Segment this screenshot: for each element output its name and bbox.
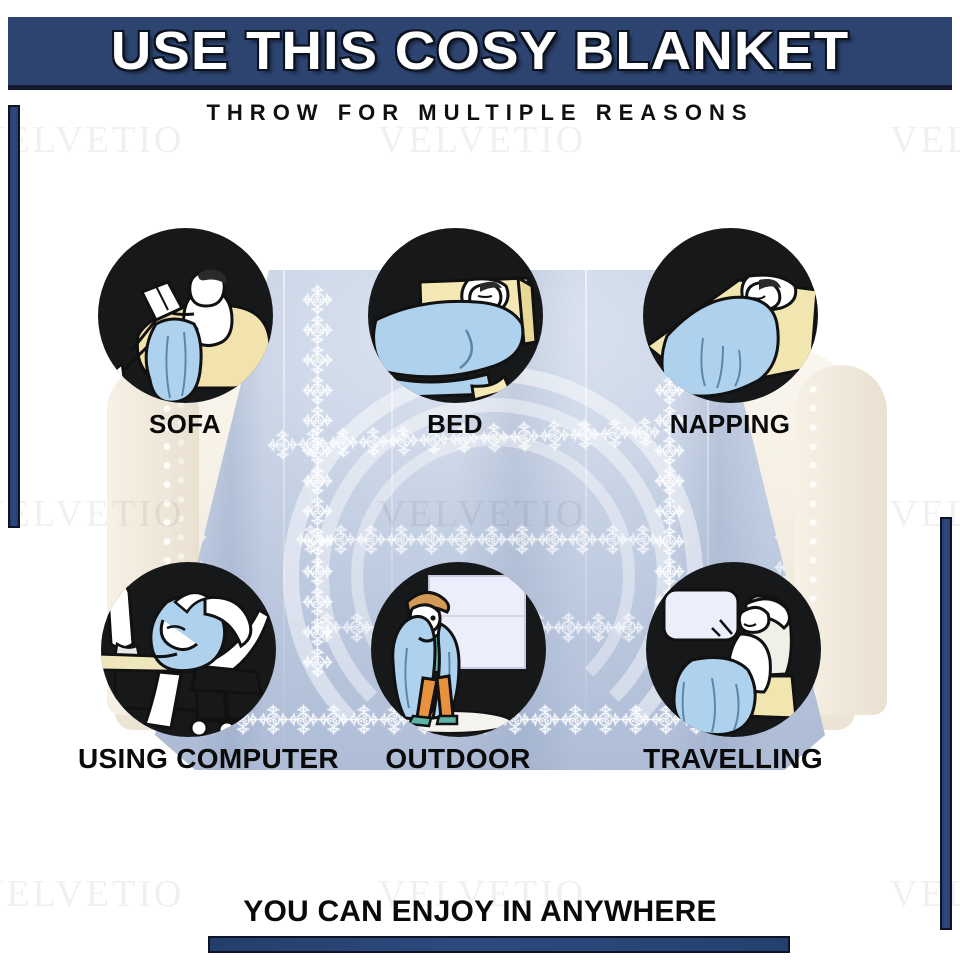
use-case-label: TRAVELLING bbox=[623, 743, 843, 775]
person-standing-outdoor-icon bbox=[371, 562, 546, 737]
use-case-napping[interactable]: NAPPING bbox=[620, 228, 840, 440]
use-case-label: SOFA bbox=[75, 409, 295, 440]
right-accent-rule bbox=[940, 517, 952, 930]
person-in-travel-seat-icon bbox=[646, 562, 821, 737]
use-case-label: USING COMPUTER bbox=[78, 743, 298, 775]
left-accent-rule bbox=[8, 105, 20, 528]
infographic-page: ࿇࿇࿇࿇࿇࿇࿇࿇࿇࿇࿇࿇࿇ ࿇࿇࿇࿇࿇࿇࿇࿇࿇࿇࿇࿇࿇ ࿇࿇࿇࿇࿇࿇࿇࿇࿇࿇࿇࿇… bbox=[0, 0, 960, 960]
use-case-using-computer[interactable]: USING COMPUTER bbox=[78, 562, 298, 775]
use-case-label: NAPPING bbox=[620, 409, 840, 440]
page-subtitle: THROW FOR MULTIPLE REASONS bbox=[0, 100, 960, 126]
use-case-travelling[interactable]: TRAVELLING bbox=[623, 562, 843, 775]
use-case-bed[interactable]: BED bbox=[345, 228, 565, 440]
person-napping-icon bbox=[643, 228, 818, 403]
person-sleeping-in-bed-icon bbox=[368, 228, 543, 403]
use-case-label: BED bbox=[345, 409, 565, 440]
medallion-key-arc-2: ࿇࿇࿇࿇࿇࿇࿇࿇࿇࿇࿇࿇ bbox=[295, 522, 695, 556]
person-at-computer-desk-icon bbox=[101, 562, 276, 737]
use-case-label: OUTDOOR bbox=[348, 743, 568, 775]
page-title: USE THIS COSY BLANKET bbox=[111, 20, 849, 82]
footer-caption: YOU CAN ENJOY IN ANYWHERE bbox=[0, 895, 960, 929]
use-case-sofa[interactable]: SOFA bbox=[75, 228, 295, 440]
person-reading-on-sofa-icon bbox=[98, 228, 273, 403]
footer-accent-rule bbox=[208, 936, 790, 953]
header-band: USE THIS COSY BLANKET bbox=[8, 17, 952, 90]
use-case-outdoor[interactable]: OUTDOOR bbox=[348, 562, 568, 775]
